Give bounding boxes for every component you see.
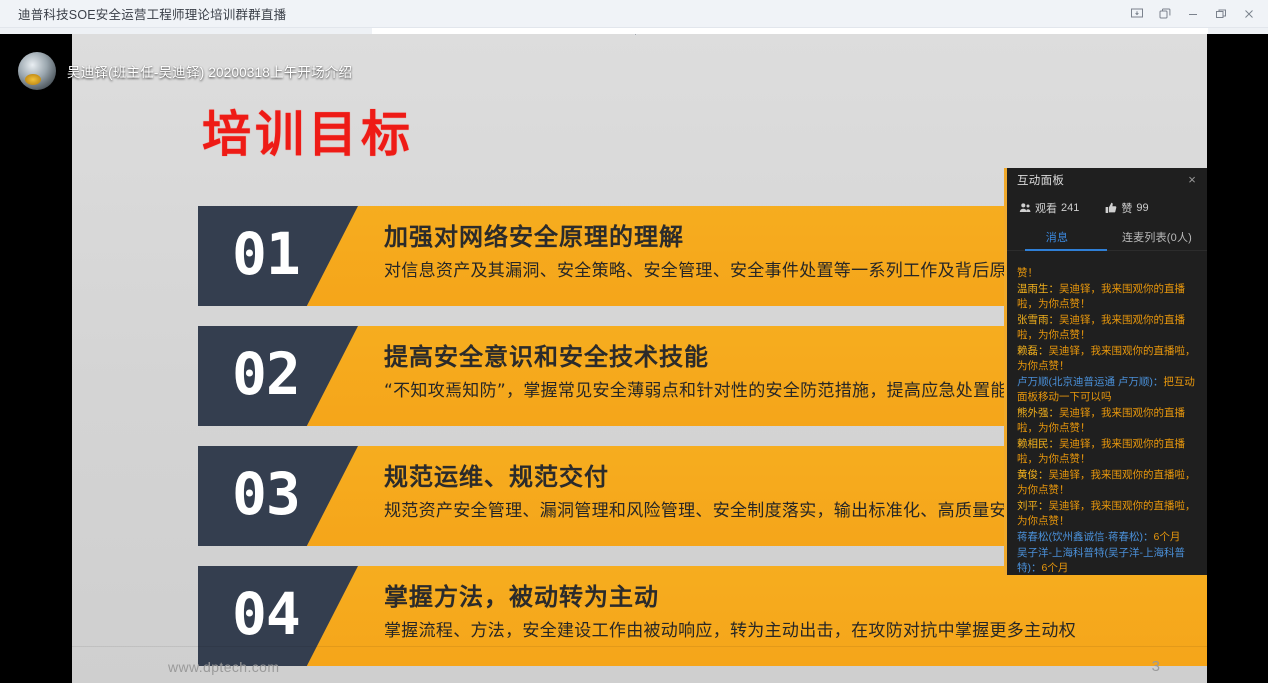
- slide-website-url: www.dptech.com: [168, 659, 279, 675]
- restore-icon[interactable]: [1208, 2, 1234, 26]
- chat-message: 卢万顺(北京迪普运通 卢万顺)：把互动面板移动一下可以吗: [1017, 375, 1199, 405]
- thumbs-up-icon: [1105, 202, 1117, 214]
- avatar: [18, 52, 56, 90]
- viewer-count-label: 观看: [1035, 200, 1057, 216]
- active-tab-underline: [1025, 249, 1107, 251]
- viewers-icon: [1019, 202, 1031, 214]
- chat-message-author: 赖磊：: [1017, 345, 1049, 357]
- chat-message-author: 张雪雨：: [1017, 314, 1059, 326]
- title-bar: 迪普科技SOE安全运营工程师理论培训群群直播: [0, 0, 1268, 28]
- chat-message: 蒋春松(饮州鑫诚信·蒋春松)：6个月: [1017, 530, 1199, 545]
- chat-message-author: 黄俊：: [1017, 469, 1049, 481]
- slide-footer-divider: [72, 646, 1207, 647]
- letterbox-right: [1207, 34, 1268, 683]
- chat-message-author: 刘平：: [1017, 500, 1049, 512]
- chat-message: 吴子洋-上海科普特(吴子洋-上海科普特)：6个月: [1017, 546, 1199, 575]
- chat-message: 刘平：吴迪铎，我来围观你的直播啦，为你点赞！: [1017, 499, 1199, 529]
- panel-stats: 观看 241 赞 99: [1007, 192, 1207, 222]
- mouse-cursor: [628, 34, 641, 42]
- window-title: 迪普科技SOE安全运营工程师理论培训群群直播: [18, 4, 286, 23]
- chat-message-body: 赞！: [1017, 267, 1038, 279]
- viewer-count: 观看 241: [1019, 200, 1079, 216]
- objective-number: 01: [232, 220, 300, 290]
- tab-messages[interactable]: 消息: [1007, 226, 1107, 251]
- chat-message: 熊外强：吴迪铎，我来围观你的直播啦，为你点赞！: [1017, 406, 1199, 436]
- slide-page-number: 3: [1152, 658, 1160, 675]
- window-controls: [1124, 0, 1262, 28]
- chat-message: 温雨生：吴迪铎，我来围观你的直播啦，为你点赞！: [1017, 282, 1199, 312]
- tab-mic-list[interactable]: 连麦列表(0人): [1107, 226, 1207, 251]
- chat-message: 赖相民：吴迪铎，我来围观你的直播啦，为你点赞！: [1017, 437, 1199, 467]
- interaction-panel-title: 互动面板: [1017, 172, 1064, 188]
- objective-number: 02: [232, 340, 300, 410]
- like-count: 赞 99: [1105, 200, 1148, 216]
- close-icon[interactable]: [1236, 2, 1262, 26]
- chat-message: 黄俊：吴迪铎，我来围观你的直播啦，为你点赞！: [1017, 468, 1199, 498]
- objective-number: 04: [232, 580, 300, 650]
- like-count-label: 赞: [1121, 200, 1132, 216]
- presenter-name: 吴迪铎(班主任-吴迪铎) 20200318上午开场介绍: [67, 61, 352, 81]
- interaction-panel[interactable]: 互动面板 × 观看 241: [1004, 168, 1207, 575]
- chat-message-author: 熊外强：: [1017, 407, 1059, 419]
- chat-message: 张雪雨：吴迪铎，我来围观你的直播啦，为你点赞！: [1017, 313, 1199, 343]
- minimize-icon[interactable]: [1180, 2, 1206, 26]
- screen-share-icon[interactable]: [1124, 2, 1150, 26]
- interaction-panel-header[interactable]: 互动面板 ×: [1007, 168, 1207, 192]
- chat-message-author: 蒋春松(饮州鑫诚信·蒋春松)：: [1017, 531, 1154, 543]
- chat-message-author: 赖相民：: [1017, 438, 1059, 450]
- viewer-count-value: 241: [1061, 202, 1079, 214]
- close-icon[interactable]: ×: [1184, 171, 1200, 187]
- objective-subtext: 掌握流程、方法，安全建设工作由被动响应，转为主动出击，在攻防对抗中掌握更多主动权: [384, 620, 1201, 642]
- presenter-overlay: 吴迪铎(班主任-吴迪铎) 20200318上午开场介绍: [18, 52, 352, 90]
- live-broadcast-window: 迪普科技SOE安全运营工程师理论培训群群直播: [0, 0, 1268, 683]
- chat-message-list[interactable]: 赞！温雨生：吴迪铎，我来围观你的直播啦，为你点赞！张雪雨：吴迪铎，我来围观你的直…: [1007, 262, 1207, 575]
- objective-row: 04 掌握方法，被动转为主动 掌握流程、方法，安全建设工作由被动响应，转为主动出…: [198, 566, 1207, 666]
- like-count-value: 99: [1136, 202, 1148, 214]
- slide-title: 培训目标: [202, 110, 414, 159]
- chat-message-body: 6个月: [1154, 531, 1181, 543]
- chat-message-author: 卢万顺(北京迪普运通 卢万顺)：: [1017, 376, 1163, 388]
- chat-message: 赖磊：吴迪铎，我来围观你的直播啦，为你点赞！: [1017, 344, 1199, 374]
- chat-message-body: 6个月: [1042, 562, 1069, 574]
- video-stage[interactable]: 培训目标 01 加强对网络安全原理的理解 对信息资产及其漏洞、安全策略、安全管理…: [0, 34, 1268, 683]
- objective-number: 03: [232, 460, 300, 530]
- copy-icon[interactable]: [1152, 2, 1178, 26]
- chat-message: 赞！: [1017, 266, 1199, 281]
- letterbox-left: [0, 34, 72, 683]
- objective-heading: 掌握方法，被动转为主动: [384, 582, 1201, 612]
- panel-tabs: 消息 连麦列表(0人): [1007, 226, 1207, 251]
- chat-message-author: 温雨生：: [1017, 283, 1059, 295]
